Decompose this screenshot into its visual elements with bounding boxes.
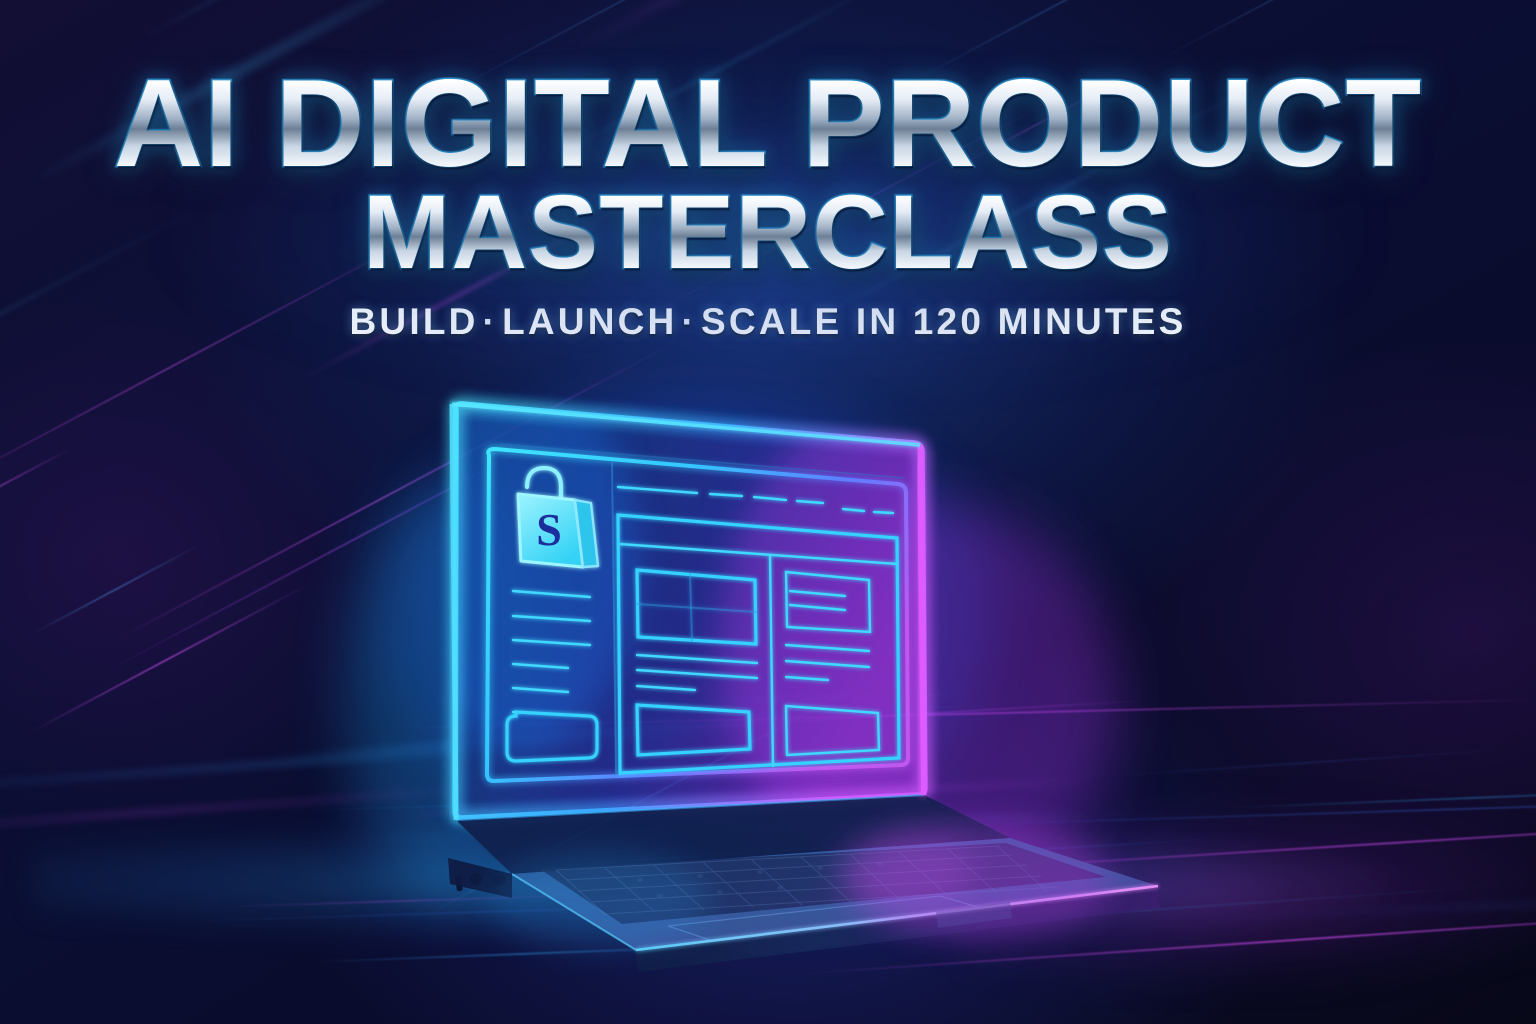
lid-panel [452,404,924,820]
headline-subtitle: BUILD·LAUNCH·SCALE IN 120 MINUTES [0,301,1536,343]
floor-light-streak [262,704,951,761]
light-streak [29,582,311,733]
sidebar-divider [612,462,616,776]
center-cta-button [637,705,750,755]
headline-line-2-text: MASTERCLASS [363,180,1173,285]
light-streak [29,543,201,636]
content-outer-frame [618,515,899,773]
floor-light-streak [899,790,1536,828]
subtitle-separator-1: · [479,301,503,342]
light-streak [0,446,73,550]
subtitle-part-launch: LAUNCH [502,301,677,342]
base-top-surface [512,838,1158,950]
light-streak [430,649,927,914]
center-text-line-1 [637,655,757,663]
screen-wireframe: S [487,444,908,781]
laptop-lid [400,370,1040,870]
laptop-rim-lighting [452,404,1110,950]
keyboard-deck [540,843,1106,924]
floor-light-streak [700,838,1218,870]
screen-sidebar [507,591,597,761]
floor-light-streak [214,893,623,908]
floor-light-streak [275,789,966,812]
floor-light-streak [711,883,1533,941]
lid-top-cyan-rim [452,404,920,445]
center-text-line-2 [637,670,757,678]
floor-light-streak [391,777,1102,816]
laptop-ambient-glow [345,390,1120,900]
light-streak [1154,0,1536,63]
shopify-bag-letter: S [536,504,562,555]
floor-cyan-glow [31,822,1413,942]
floor-light-streak [796,897,1536,975]
right-card-line-1 [790,591,845,596]
topnav-dash-1 [618,487,697,493]
floor-light-streak [505,694,1280,716]
floor-light-streak [397,699,1536,730]
topnav-dash-3 [754,497,786,500]
hinge-face [456,795,1010,874]
floor-light-streak [1093,748,1518,778]
lid-left-cyan-rim [452,404,456,820]
right-card-box [786,572,870,632]
floor-light-streak [0,718,908,799]
screen-content-frame [618,515,899,773]
center-text-line-3 [637,686,695,690]
floor-light-streak [163,901,787,923]
shopify-bag-icon: S [518,468,598,567]
topnav-dash-4 [797,501,823,503]
base-front-edge [636,886,1160,972]
subtitle-part-scale: SCALE IN 120 MINUTES [701,301,1186,342]
floor-light-streak [646,699,1153,731]
floor-magenta-glow [957,804,1536,984]
sidebar-line-3 [513,640,590,645]
headline-line-2: MASTERCLASS MASTERCLASS [0,180,1536,285]
floor-light-streak [342,810,1194,843]
content-header-rule [620,544,898,564]
base-left-side [448,858,512,898]
right-text-line-1 [786,645,869,651]
topnav-dash-6 [874,512,893,513]
light-streak [141,0,563,39]
center-image-crosshair-h [637,604,756,612]
lid-right-magenta-rim [920,446,924,795]
right-text-line-2 [786,661,869,667]
headline-block: AI DIGITAL PRODUCT AI DIGITAL PRODUCT MA… [0,62,1536,343]
front-latch [936,902,1012,928]
floor-light-streaks [0,694,1536,1024]
screen-panel-border [487,449,908,781]
headline-line-1-text: AI DIGITAL PRODUCT [114,62,1423,186]
sidebar-line-5 [513,688,568,692]
sidebar-cta-button [507,712,597,761]
floor-light-streak [877,803,1536,876]
light-streak [571,0,1146,53]
screen-topnav [618,487,893,513]
content-column-divider [770,555,773,767]
light-streak [100,393,628,675]
laptop-hinge [456,795,1010,874]
subtitle-part-build: BUILD [350,301,479,342]
topnav-dash-2 [710,494,742,496]
screen-right-column [786,572,879,755]
sidebar-line-6 [513,712,568,715]
right-card-line-2 [790,605,845,610]
lid-neon-outline [455,404,925,818]
laptop-base [448,838,1160,972]
topnav-dash-5 [843,509,864,511]
keyboard-keys [556,846,1058,914]
floor-light-streak [0,780,569,839]
sidebar-line-1 [513,591,590,597]
floor-light-streak [379,702,1030,729]
center-image-crosshair-v [690,574,692,641]
floor-light-streak [1225,785,1536,809]
banner-canvas: AI DIGITAL PRODUCT AI DIGITAL PRODUCT MA… [0,0,1536,1024]
screen-center-column [637,570,757,755]
floor-light-streak [313,943,783,963]
base-front-rim [636,886,1158,950]
headline-line-1: AI DIGITAL PRODUCT AI DIGITAL PRODUCT [0,62,1536,186]
base-ports [455,873,506,891]
sidebar-line-2 [513,616,590,621]
sidebar-line-4 [513,664,568,668]
floor-light-streak [1177,890,1536,921]
subtitle-separator-2: · [677,301,701,342]
trackpad [668,896,1022,954]
light-streak [110,339,682,644]
right-cta-button [786,706,879,755]
center-image-placeholder [637,570,756,644]
screen-chrome-echo [500,444,905,478]
right-text-line-3 [786,677,828,680]
floor-light-streak [488,842,880,871]
